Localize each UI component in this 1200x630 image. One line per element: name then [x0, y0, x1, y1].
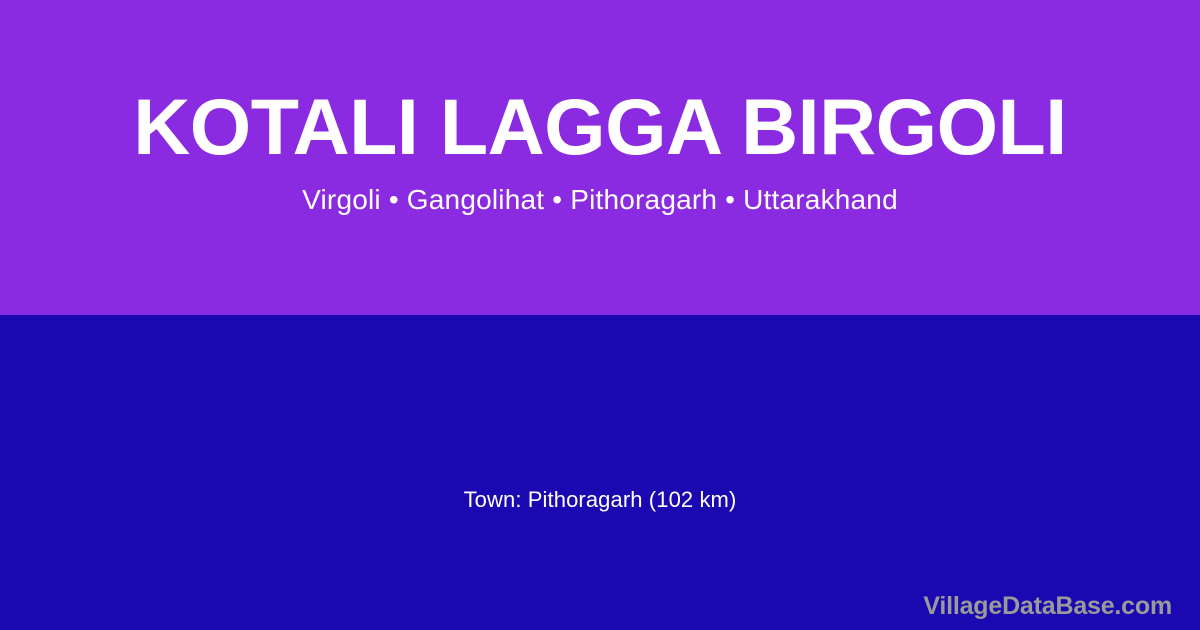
- page-title: KOTALI LAGGA BIRGOLI: [0, 84, 1200, 170]
- details-panel: Town: Pithoragarh (102 km) VillageDataBa…: [0, 315, 1200, 630]
- village-info-card: KOTALI LAGGA BIRGOLI Virgoli • Gangoliha…: [0, 0, 1200, 630]
- hero-banner: KOTALI LAGGA BIRGOLI Virgoli • Gangoliha…: [0, 0, 1200, 315]
- nearest-town-label: Town: Pithoragarh (102 km): [0, 485, 1200, 515]
- location-breadcrumb: Virgoli • Gangolihat • Pithoragarh • Utt…: [0, 183, 1200, 217]
- site-watermark: VillageDataBase.com: [923, 590, 1172, 622]
